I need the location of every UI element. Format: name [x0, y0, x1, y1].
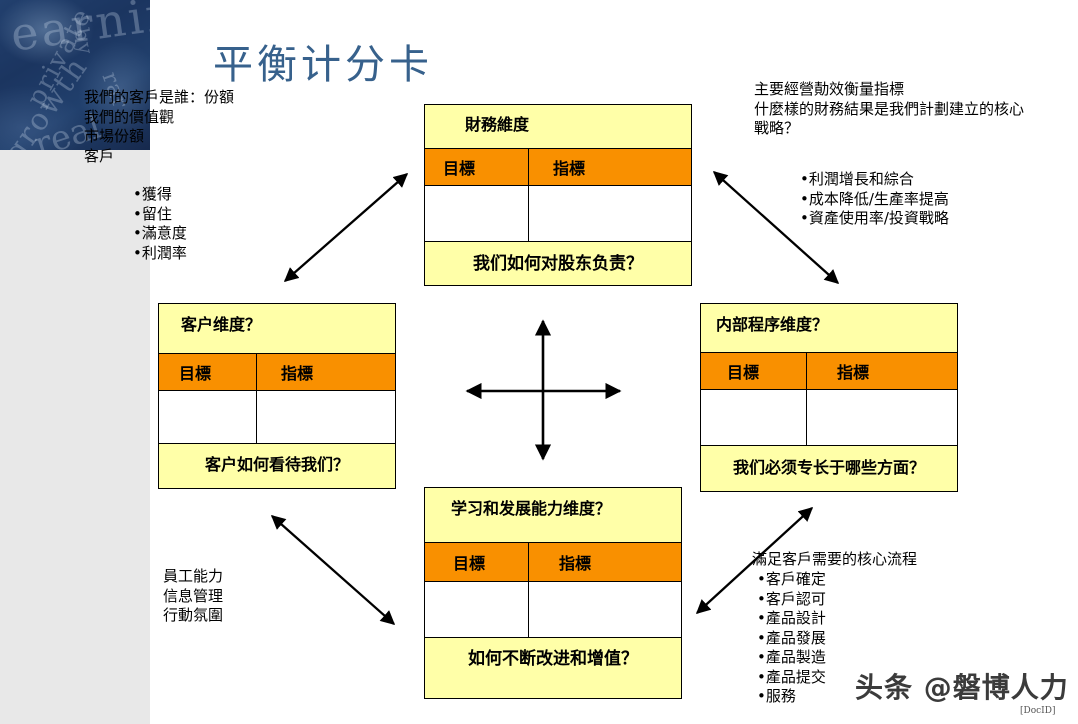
card-financial-cell-measure[interactable]: [529, 186, 691, 241]
card-customer-header-label: 客户维度？: [181, 311, 261, 335]
note-top-left-lines: 我們的客戶是誰：份額 我們的價值觀 市場份額 客戶: [84, 88, 234, 166]
card-internal-header: 内部程序维度？: [701, 304, 957, 352]
card-customer-cell-objective[interactable]: [159, 391, 257, 443]
note-top-right-bullets: •利潤增長和綜合 •成本降低/生產率提高 •資產使用率/投資戰略: [800, 170, 949, 229]
card-internal-header-label: 内部程序维度？: [716, 311, 828, 335]
card-financial-footer: 我们如何对股东负责？: [425, 242, 691, 285]
card-learning-header-label: 学习和发展能力维度？: [451, 495, 611, 519]
arrow-learning-to-bottom-left-note: [272, 516, 394, 624]
slide-canvas: earning private growth by rar real 平衡计分卡…: [0, 0, 1078, 724]
note-bottom-left-lines: 員工能力 信息管理 行動氛圍: [163, 567, 223, 626]
card-internal-col-measure: 指標: [807, 353, 957, 389]
card-financial-cell-objective[interactable]: [425, 186, 529, 241]
card-financial-perspective[interactable]: 財務維度 目標 指標 我们如何对股东负责？: [424, 104, 692, 286]
deco-word-by: by: [69, 26, 98, 58]
card-customer-body[interactable]: [159, 391, 395, 444]
watermark-text: 头条 @磐博人力: [855, 666, 1069, 706]
card-customer-cell-measure[interactable]: [257, 391, 395, 443]
card-financial-col-measure: 指標: [529, 149, 691, 185]
deco-word-earning: earning: [7, 0, 150, 62]
card-learning-col-measure: 指標: [529, 543, 681, 581]
note-top-right-lines: 主要經營勣效衡量指標 什麼樣的財務結果是我們計劃建立的核心 戰略？: [754, 80, 1024, 139]
card-internal-footer: 我们必须专长于哪些方面？: [701, 446, 957, 491]
card-internal-body[interactable]: [701, 390, 957, 446]
card-financial-header: 財務維度: [425, 105, 691, 148]
card-financial-column-headers: 目標 指標: [425, 148, 691, 186]
card-internal-cell-objective[interactable]: [701, 390, 807, 445]
card-learning-cell-measure[interactable]: [529, 582, 681, 637]
card-internal-process-perspective[interactable]: 内部程序维度？ 目標 指標 我们必须专长于哪些方面？: [700, 303, 958, 492]
card-internal-column-headers: 目標 指標: [701, 352, 957, 390]
card-learning-growth-perspective[interactable]: 学习和发展能力维度？ 目標 指標 如何不断改进和增值？: [424, 487, 682, 699]
card-learning-footer: 如何不断改进和增值？: [425, 638, 681, 698]
card-financial-body[interactable]: [425, 186, 691, 242]
card-learning-col-objective: 目標: [425, 543, 529, 581]
docid-label: [DocID]: [1020, 706, 1055, 716]
card-learning-header: 学习和发展能力维度？: [425, 488, 681, 542]
card-internal-cell-measure[interactable]: [807, 390, 957, 445]
card-customer-footer: 客户如何看待我们？: [159, 444, 395, 488]
note-bottom-right-bullets: •客戶確定 •客戶認可 •產品設計 •產品發展 •產品製造 •產品提交 •服務: [757, 570, 826, 707]
note-top-left-bullets: •獲得 •留住 •滿意度 •利潤率: [133, 185, 187, 263]
card-financial-header-label: 財務維度: [465, 111, 529, 135]
card-learning-column-headers: 目標 指標: [425, 542, 681, 582]
card-learning-cell-objective[interactable]: [425, 582, 529, 637]
note-bottom-right-heading: 滿足客戶需要的核心流程: [752, 550, 917, 570]
card-customer-header: 客户维度？: [159, 304, 395, 353]
card-customer-col-objective: 目標: [159, 354, 257, 390]
page-title: 平衡计分卡: [213, 32, 433, 90]
arrow-customer-to-financial: [285, 174, 407, 281]
card-customer-col-measure: 指標: [257, 354, 395, 390]
card-learning-body[interactable]: [425, 582, 681, 638]
card-internal-col-objective: 目標: [701, 353, 807, 389]
card-financial-col-objective: 目標: [425, 149, 529, 185]
deco-word-growth: growth: [0, 50, 95, 150]
card-customer-column-headers: 目標 指標: [159, 353, 395, 391]
card-customer-perspective[interactable]: 客户维度？ 目標 指標 客户如何看待我们？: [158, 303, 396, 489]
